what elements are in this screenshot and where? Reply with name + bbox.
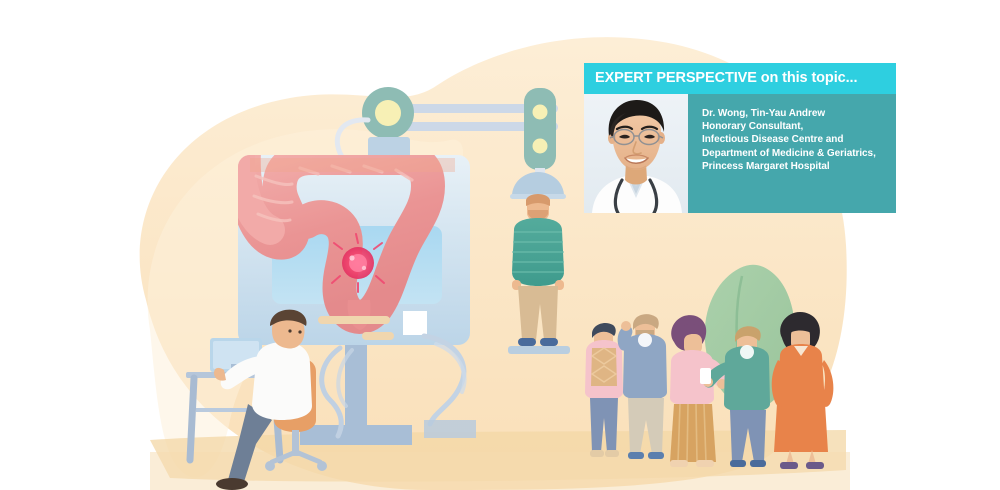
- expert-hospital: Princess Margaret Hospital: [702, 160, 888, 173]
- expert-role: Honorary Consultant,: [702, 120, 888, 133]
- expert-panel-title: EXPERT PERSPECTIVE on this topic...: [595, 71, 857, 86]
- phone: [700, 368, 711, 384]
- expert-portrait-photo: [584, 94, 688, 213]
- illustration-canvas: EXPERT PERSPECTIVE on this topic...: [0, 0, 1000, 490]
- display-screen: [238, 148, 470, 345]
- expert-credentials: Dr. Wong, Tin-Yau Andrew Honorary Consul…: [688, 94, 896, 213]
- scanner-lens-inner: [375, 100, 401, 126]
- expert-perspective-panel: EXPERT PERSPECTIVE on this topic...: [584, 63, 896, 213]
- scanner-button-top: [533, 105, 548, 120]
- scanner-control-panel: [524, 88, 556, 170]
- doctor-coat: [252, 342, 312, 420]
- expert-dept-line-2: Department of Medicine & Geriatrics,: [702, 147, 888, 160]
- screen-thumbnail: [403, 311, 427, 335]
- expert-panel-body: Dr. Wong, Tin-Yau Andrew Honorary Consul…: [584, 94, 896, 213]
- expert-dept-line-1: Infectious Disease Centre and: [702, 133, 888, 146]
- expert-panel-header: EXPERT PERSPECTIVE on this topic...: [584, 63, 896, 94]
- scanner-button-bottom: [533, 139, 548, 154]
- expert-name: Dr. Wong, Tin-Yau Andrew: [702, 107, 888, 120]
